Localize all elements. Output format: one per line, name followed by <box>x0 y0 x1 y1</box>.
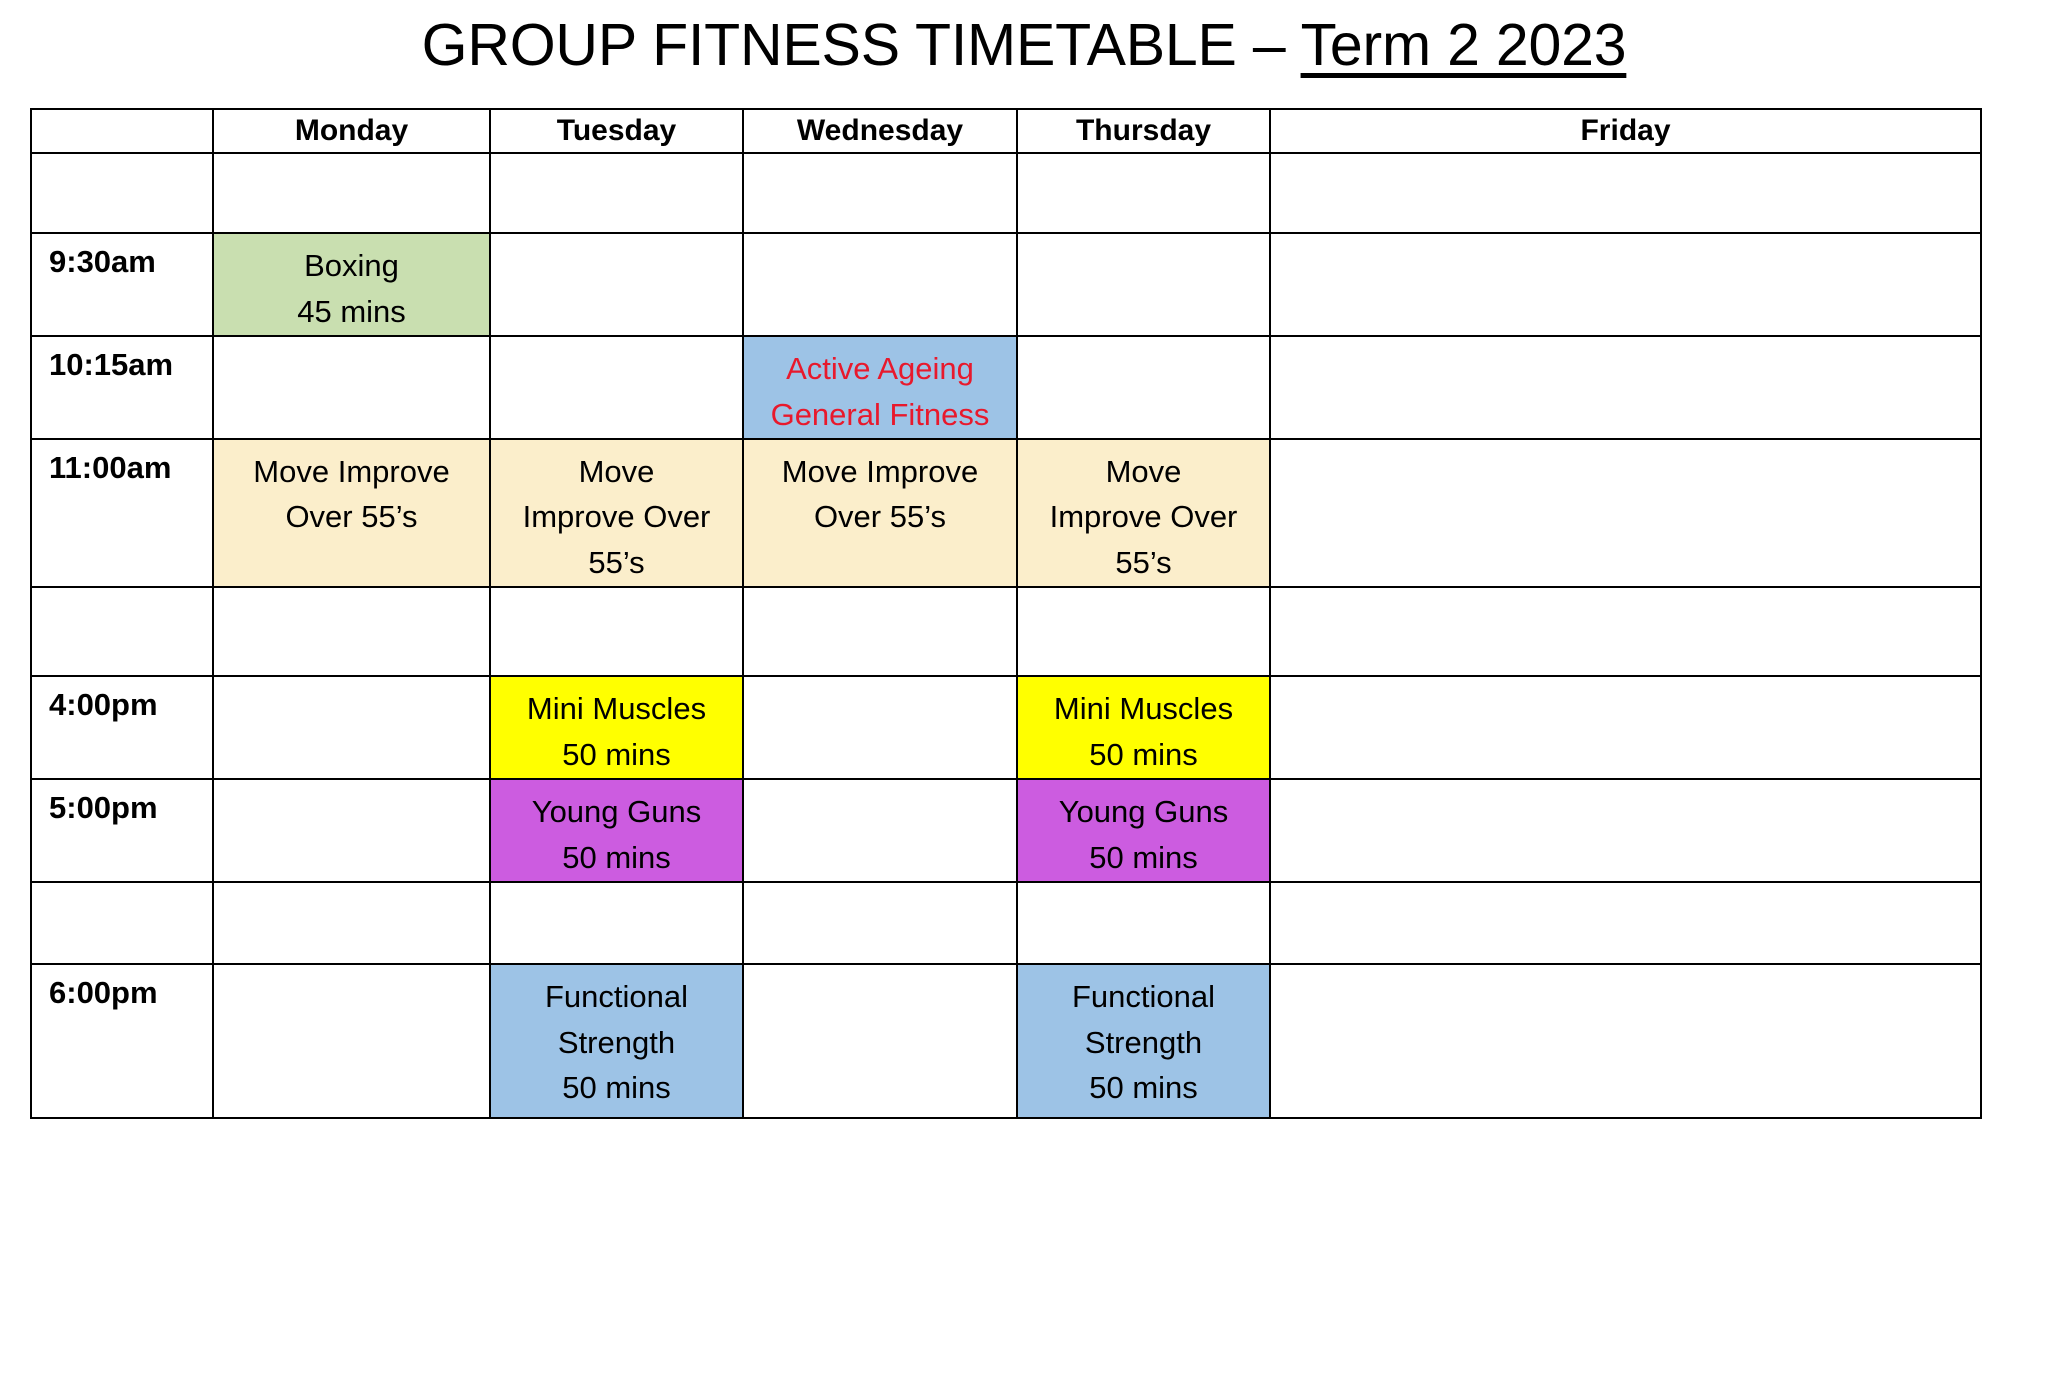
class-name-line1: Functional <box>491 974 742 1020</box>
class-name-line2: Over 55’s <box>214 494 489 540</box>
cell-1100-wednesday[interactable]: Move Improve Over 55’s <box>743 439 1017 588</box>
class-move-improve-monday[interactable]: Move Improve Over 55’s <box>214 440 489 587</box>
timetable: Monday Tuesday Wednesday Thursday Friday <box>30 108 1982 1119</box>
class-move-improve-tuesday[interactable]: Move Improve Over 55’s <box>491 440 742 587</box>
cell-1800-monday[interactable] <box>213 964 490 1118</box>
cell-0930-thursday[interactable] <box>1017 233 1270 336</box>
cell-blank2-tuesday[interactable] <box>490 587 743 676</box>
class-name-line2: Over 55’s <box>744 494 1016 540</box>
cell-1015-monday[interactable] <box>213 336 490 439</box>
time-cell-1800: 6:00pm <box>31 964 213 1118</box>
cell-1015-tuesday[interactable] <box>490 336 743 439</box>
table-row-1700: 5:00pm Young Guns 50 mins Young Guns 50 … <box>31 779 1981 882</box>
table-row-blank-2 <box>31 587 1981 676</box>
cell-blank3-tuesday[interactable] <box>490 882 743 964</box>
cell-0930-friday[interactable] <box>1270 233 1981 336</box>
day-header-tuesday: Tuesday <box>557 114 677 147</box>
timetable-container: Monday Tuesday Wednesday Thursday Friday <box>30 108 1980 1119</box>
time-label-blank-1 <box>32 154 212 166</box>
cell-1015-thursday[interactable] <box>1017 336 1270 439</box>
time-label-1700: 5:00pm <box>32 780 212 823</box>
time-label-1015: 10:15am <box>32 337 212 380</box>
time-label-1800: 6:00pm <box>32 965 212 1008</box>
cell-1700-monday[interactable] <box>213 779 490 882</box>
cell-1800-friday[interactable] <box>1270 964 1981 1118</box>
cell-1015-friday[interactable] <box>1270 336 1981 439</box>
cell-blank1-thursday[interactable] <box>1017 153 1270 233</box>
class-name-line1: Move Improve <box>744 449 1016 495</box>
day-header-monday: Monday <box>295 114 408 147</box>
cell-blank3-monday[interactable] <box>213 882 490 964</box>
table-row-0930: 9:30am Boxing 45 mins <box>31 233 1981 336</box>
cell-1600-friday[interactable] <box>1270 676 1981 779</box>
class-name: Young Guns <box>491 789 742 835</box>
time-label-1600: 4:00pm <box>32 677 212 720</box>
table-row-1015: 10:15am Active Ageing General Fitness <box>31 336 1981 439</box>
class-move-improve-thursday[interactable]: Move Improve Over 55’s <box>1018 440 1269 587</box>
header-cell-thursday: Thursday <box>1017 109 1270 153</box>
cell-1700-friday[interactable] <box>1270 779 1981 882</box>
class-functional-strength-tuesday[interactable]: Functional Strength 50 mins <box>491 965 742 1117</box>
class-name: Mini Muscles <box>491 686 742 732</box>
day-header-wednesday: Wednesday <box>797 114 963 147</box>
table-row-blank-1 <box>31 153 1981 233</box>
table-header-row: Monday Tuesday Wednesday Thursday Friday <box>31 109 1981 153</box>
table-row-1600: 4:00pm Mini Muscles 50 mins Mini Muscles… <box>31 676 1981 779</box>
page-title-text: GROUP FITNESS TIMETABLE – Term 2 2023 <box>422 12 1627 80</box>
cell-blank2-thursday[interactable] <box>1017 587 1270 676</box>
cell-1015-wednesday[interactable]: Active Ageing General Fitness <box>743 336 1017 439</box>
class-name-line2: Improve Over <box>1018 494 1269 540</box>
cell-blank1-friday[interactable] <box>1270 153 1981 233</box>
cell-1600-tuesday[interactable]: Mini Muscles 50 mins <box>490 676 743 779</box>
class-functional-strength-thursday[interactable]: Functional Strength 50 mins <box>1018 965 1269 1117</box>
cell-blank3-thursday[interactable] <box>1017 882 1270 964</box>
cell-1800-wednesday[interactable] <box>743 964 1017 1118</box>
class-subtitle: General Fitness <box>744 392 1016 438</box>
class-duration: 50 mins <box>1018 732 1269 778</box>
header-cell-wednesday: Wednesday <box>743 109 1017 153</box>
class-name-line3: 55’s <box>1018 540 1269 586</box>
cell-1100-thursday[interactable]: Move Improve Over 55’s <box>1017 439 1270 588</box>
cell-1100-tuesday[interactable]: Move Improve Over 55’s <box>490 439 743 588</box>
class-mini-muscles-thursday[interactable]: Mini Muscles 50 mins <box>1018 677 1269 778</box>
class-name-line2: Improve Over <box>491 494 742 540</box>
cell-1100-friday[interactable] <box>1270 439 1981 588</box>
time-cell-blank-1 <box>31 153 213 233</box>
time-label-blank-2 <box>32 588 212 600</box>
table-row-1100: 11:00am Move Improve Over 55’s Move Impr… <box>31 439 1981 588</box>
class-move-improve-wednesday[interactable]: Move Improve Over 55’s <box>744 440 1016 587</box>
header-cell-friday: Friday <box>1270 109 1981 153</box>
table-row-1800: 6:00pm Functional Strength 50 mins Funct… <box>31 964 1981 1118</box>
cell-blank2-friday[interactable] <box>1270 587 1981 676</box>
time-cell-blank-3 <box>31 882 213 964</box>
page-title-main: GROUP FITNESS TIMETABLE – <box>422 12 1301 78</box>
cell-blank2-monday[interactable] <box>213 587 490 676</box>
cell-1800-thursday[interactable]: Functional Strength 50 mins <box>1017 964 1270 1118</box>
class-duration: 50 mins <box>491 1065 742 1111</box>
cell-1600-thursday[interactable]: Mini Muscles 50 mins <box>1017 676 1270 779</box>
class-duration: 50 mins <box>491 732 742 778</box>
cell-1600-monday[interactable] <box>213 676 490 779</box>
class-name: Boxing <box>214 243 489 289</box>
class-young-guns-tuesday[interactable]: Young Guns 50 mins <box>491 780 742 881</box>
class-duration: 50 mins <box>1018 1065 1269 1111</box>
header-cell-tuesday: Tuesday <box>490 109 743 153</box>
page-title-term: Term 2 2023 <box>1301 12 1627 78</box>
time-label-blank-3 <box>32 883 212 895</box>
time-cell-1600: 4:00pm <box>31 676 213 779</box>
class-duration: 50 mins <box>1018 835 1269 881</box>
time-label-0930: 9:30am <box>32 234 212 277</box>
class-duration: 45 mins <box>214 289 489 335</box>
class-boxing-monday[interactable]: Boxing 45 mins <box>214 234 489 335</box>
cell-blank3-wednesday[interactable] <box>743 882 1017 964</box>
cell-blank1-tuesday[interactable] <box>490 153 743 233</box>
class-name-line1: Move <box>491 449 742 495</box>
class-name-line1: Functional <box>1018 974 1269 1020</box>
time-label-1100: 11:00am <box>32 440 212 483</box>
day-header-friday: Friday <box>1580 114 1670 147</box>
cell-blank1-monday[interactable] <box>213 153 490 233</box>
cell-1700-thursday[interactable]: Young Guns 50 mins <box>1017 779 1270 882</box>
page-title: GROUP FITNESS TIMETABLE – Term 2 2023 <box>0 12 2048 80</box>
time-cell-blank-2 <box>31 587 213 676</box>
class-name-line2: Strength <box>1018 1020 1269 1066</box>
cell-0930-monday[interactable]: Boxing 45 mins <box>213 233 490 336</box>
day-header-thursday: Thursday <box>1076 114 1211 147</box>
class-active-ageing-wednesday[interactable]: Active Ageing General Fitness <box>744 337 1016 438</box>
class-name-line2: Strength <box>491 1020 742 1066</box>
class-name: Young Guns <box>1018 789 1269 835</box>
time-cell-1100: 11:00am <box>31 439 213 588</box>
cell-0930-wednesday[interactable] <box>743 233 1017 336</box>
class-young-guns-thursday[interactable]: Young Guns 50 mins <box>1018 780 1269 881</box>
header-corner-cell <box>31 109 213 153</box>
cell-blank2-wednesday[interactable] <box>743 587 1017 676</box>
cell-blank3-friday[interactable] <box>1270 882 1981 964</box>
cell-0930-tuesday[interactable] <box>490 233 743 336</box>
time-cell-1015: 10:15am <box>31 336 213 439</box>
class-name-line1: Move <box>1018 449 1269 495</box>
time-cell-1700: 5:00pm <box>31 779 213 882</box>
cell-1100-monday[interactable]: Move Improve Over 55’s <box>213 439 490 588</box>
table-row-blank-3 <box>31 882 1981 964</box>
cell-1700-wednesday[interactable] <box>743 779 1017 882</box>
cell-1600-wednesday[interactable] <box>743 676 1017 779</box>
class-name: Active Ageing <box>744 346 1016 392</box>
time-cell-0930: 9:30am <box>31 233 213 336</box>
class-name-line1: Move Improve <box>214 449 489 495</box>
header-cell-monday: Monday <box>213 109 490 153</box>
cell-blank1-wednesday[interactable] <box>743 153 1017 233</box>
class-name: Mini Muscles <box>1018 686 1269 732</box>
class-mini-muscles-tuesday[interactable]: Mini Muscles 50 mins <box>491 677 742 778</box>
timetable-page: GROUP FITNESS TIMETABLE – Term 2 2023 Mo… <box>0 0 2048 1398</box>
class-duration: 50 mins <box>491 835 742 881</box>
cell-1800-tuesday[interactable]: Functional Strength 50 mins <box>490 964 743 1118</box>
class-name-line3: 55’s <box>491 540 742 586</box>
cell-1700-tuesday[interactable]: Young Guns 50 mins <box>490 779 743 882</box>
